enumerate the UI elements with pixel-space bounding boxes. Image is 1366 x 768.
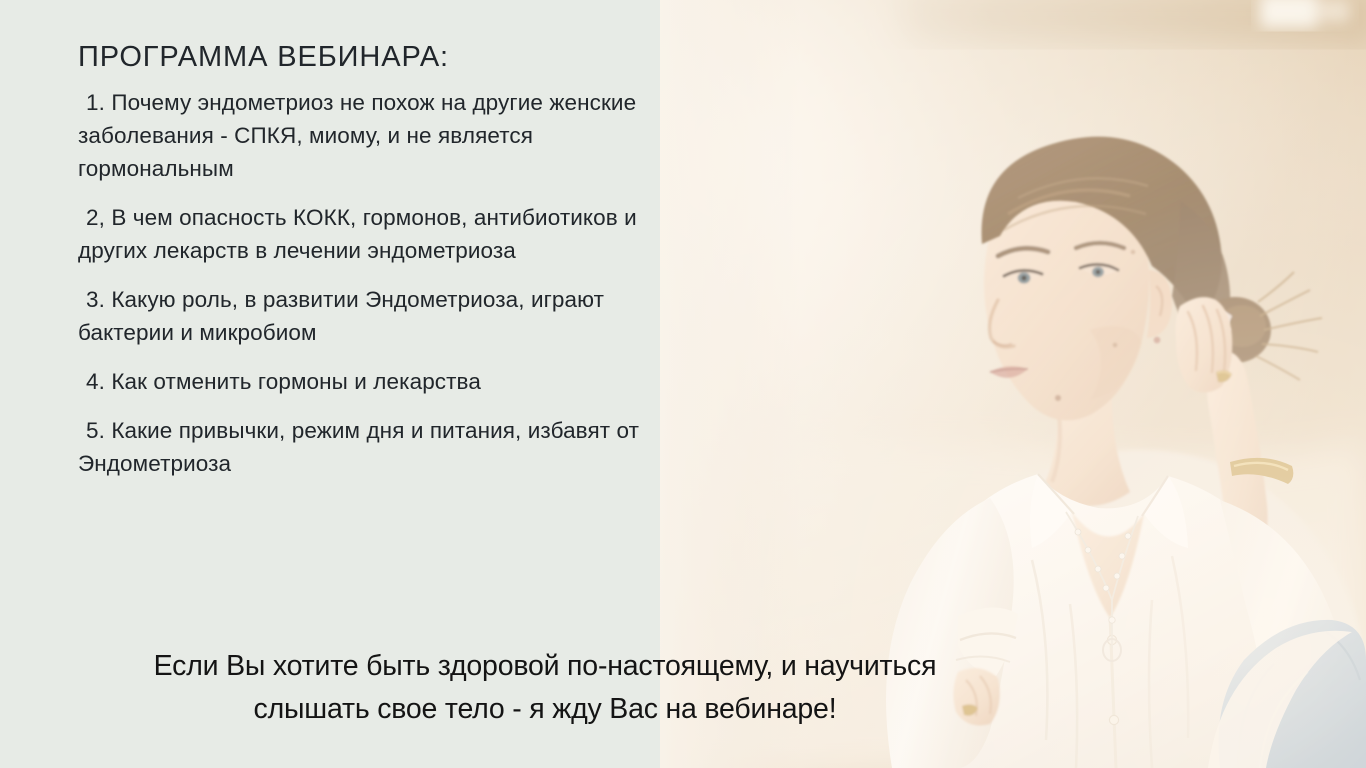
program-item-4: 4. Как отменить гормоны и лекарства [78, 365, 643, 398]
program-item-3: 3. Какую роль, в развитии Эндометриоза, … [78, 283, 643, 349]
page-title: ПРОГРАММА ВЕБИНАРА: [78, 40, 449, 75]
closing-caption: Если Вы хотите быть здоровой по-настояще… [0, 645, 1090, 731]
program-list: 1. Почему эндометриоз не похож на другие… [78, 86, 643, 480]
program-item-5: 5. Какие привычки, режим дня и питания, … [78, 414, 643, 480]
caption-line-1: Если Вы хотите быть здоровой по-настояще… [0, 645, 1090, 688]
caption-line-2: слышать свое тело - я жду Вас на вебинар… [0, 688, 1090, 731]
program-item-1: 1. Почему эндометриоз не похож на другие… [78, 86, 643, 185]
program-item-2: 2, В чем опасность КОКК, гормонов, антиб… [78, 201, 643, 267]
webinar-program-slide: ПРОГРАММА ВЕБИНАРА: 1. Почему эндометрио… [0, 0, 1366, 768]
